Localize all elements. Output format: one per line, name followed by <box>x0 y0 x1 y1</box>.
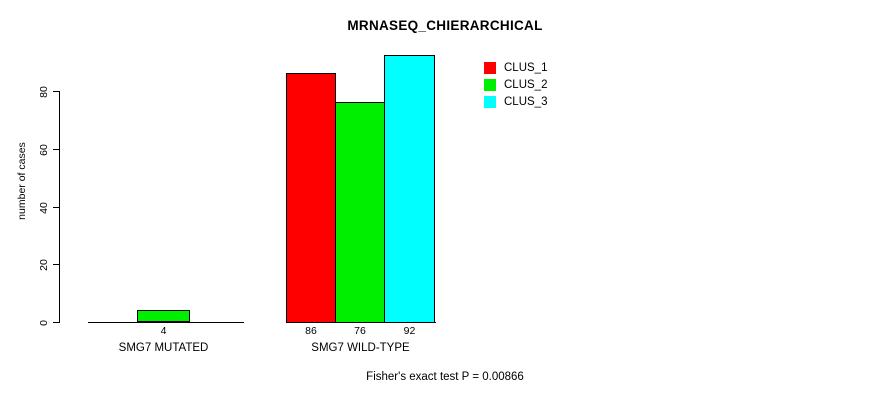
group-label-smg7-wild-type: SMG7 WILD-TYPE <box>256 342 465 354</box>
legend-label-clus-2: CLUS_2 <box>504 79 547 91</box>
bar-smg7-wild-type-clus-2[interactable] <box>335 102 385 323</box>
bar-smg7-wild-type-clus-3[interactable] <box>384 55 435 323</box>
group-label-smg7-mutated: SMG7 MUTATED <box>59 342 268 354</box>
y-tick-60 <box>53 149 59 150</box>
statistical-test-note: Fisher's exact test P = 0.00866 <box>0 371 890 383</box>
y-tick-label-80: 80 <box>38 72 50 112</box>
bar-value-smg7-wild-type-clus-1: 86 <box>286 325 336 337</box>
bar-smg7-wild-type-clus-1[interactable] <box>286 73 336 323</box>
y-tick-label-40: 40 <box>38 188 50 228</box>
legend: CLUS_1 CLUS_2 CLUS_3 <box>484 60 547 111</box>
y-axis-line <box>59 91 60 323</box>
bar-smg7-mutated-clus-2[interactable] <box>137 310 190 322</box>
legend-item-clus-1[interactable]: CLUS_1 <box>484 60 547 75</box>
y-tick-label-60: 60 <box>38 130 50 170</box>
legend-item-clus-2[interactable]: CLUS_2 <box>484 77 547 92</box>
y-tick-20 <box>53 264 59 265</box>
legend-swatch-clus-1 <box>484 62 496 74</box>
group-baseline-smg7-mutated <box>88 322 244 323</box>
bar-value-smg7-wild-type-clus-2: 76 <box>335 325 385 337</box>
bar-value-smg7-mutated-clus-2: 4 <box>137 325 190 337</box>
chart-title: MRNASEQ_CHIERARCHICAL <box>0 18 890 33</box>
legend-item-clus-3[interactable]: CLUS_3 <box>484 94 547 109</box>
chart-canvas: MRNASEQ_CHIERARCHICAL number of cases 0 … <box>0 0 890 400</box>
legend-label-clus-1: CLUS_1 <box>504 62 547 74</box>
legend-swatch-clus-3 <box>484 96 496 108</box>
legend-swatch-clus-2 <box>484 79 496 91</box>
y-axis-title: number of cases <box>16 121 28 241</box>
y-tick-0 <box>53 322 59 323</box>
y-tick-80 <box>53 91 59 92</box>
y-tick-label-0: 0 <box>38 303 50 343</box>
y-tick-label-20: 20 <box>38 245 50 285</box>
y-tick-40 <box>53 207 59 208</box>
bar-value-smg7-wild-type-clus-3: 92 <box>384 325 435 337</box>
legend-label-clus-3: CLUS_3 <box>504 96 547 108</box>
